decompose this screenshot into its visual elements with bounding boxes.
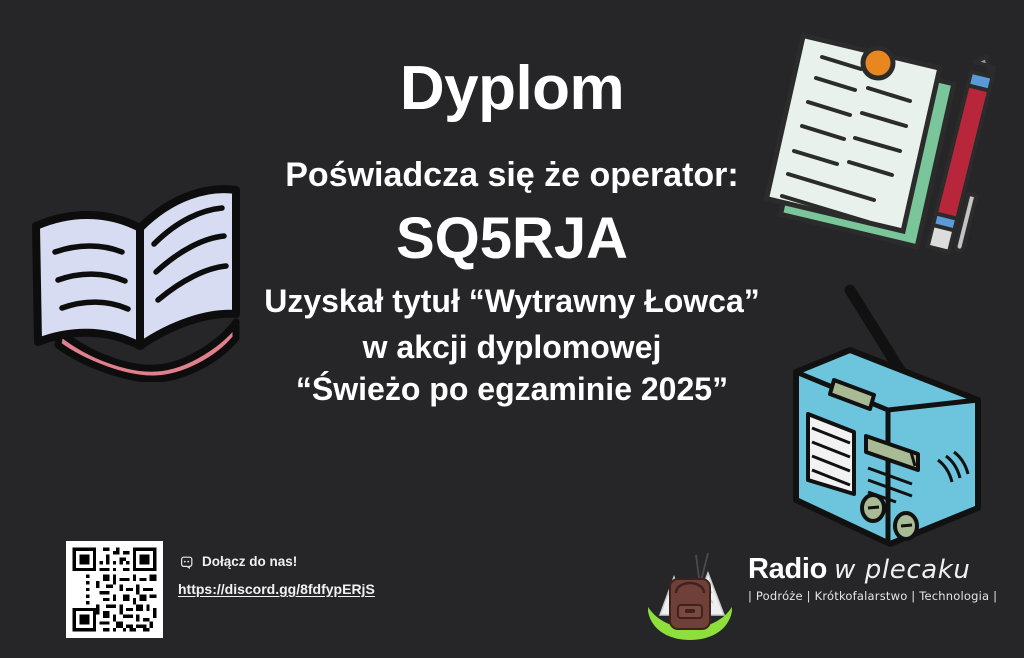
document-seal: [863, 48, 893, 78]
brand-name-light: w plecaku: [834, 555, 970, 585]
vintage-radio-illustration: [778, 268, 1024, 553]
discord-icon: [178, 554, 195, 571]
discord-invite-link[interactable]: https://discord.gg/8fdfypERjS: [178, 581, 438, 597]
discord-invite-block: Dołącz do nas! https://discord.gg/8fdfyp…: [178, 552, 438, 597]
brand-name: Radiow plecaku: [748, 555, 978, 584]
diploma-canvas: Dyplom Poświadcza się że operator: SQ5RJ…: [0, 0, 1024, 658]
qr-code[interactable]: [66, 541, 163, 638]
brand-logo: Radiow plecaku | Podróże | Krótkofalarst…: [638, 543, 978, 643]
discord-join-label: Dołącz do nas!: [202, 555, 297, 569]
brand-name-bold: Radio: [748, 553, 827, 585]
certificate-document-illustration: [758, 6, 1023, 271]
open-book-illustration: [22, 182, 257, 382]
brand-text-block: Radiow plecaku | Podróże | Krótkofalarst…: [748, 555, 978, 603]
brand-tagline: | Podróże | Krótkofalarstwo | Technologi…: [748, 589, 978, 603]
logo-backpack: [670, 579, 710, 629]
backpack-mountains-icon: [638, 543, 742, 643]
